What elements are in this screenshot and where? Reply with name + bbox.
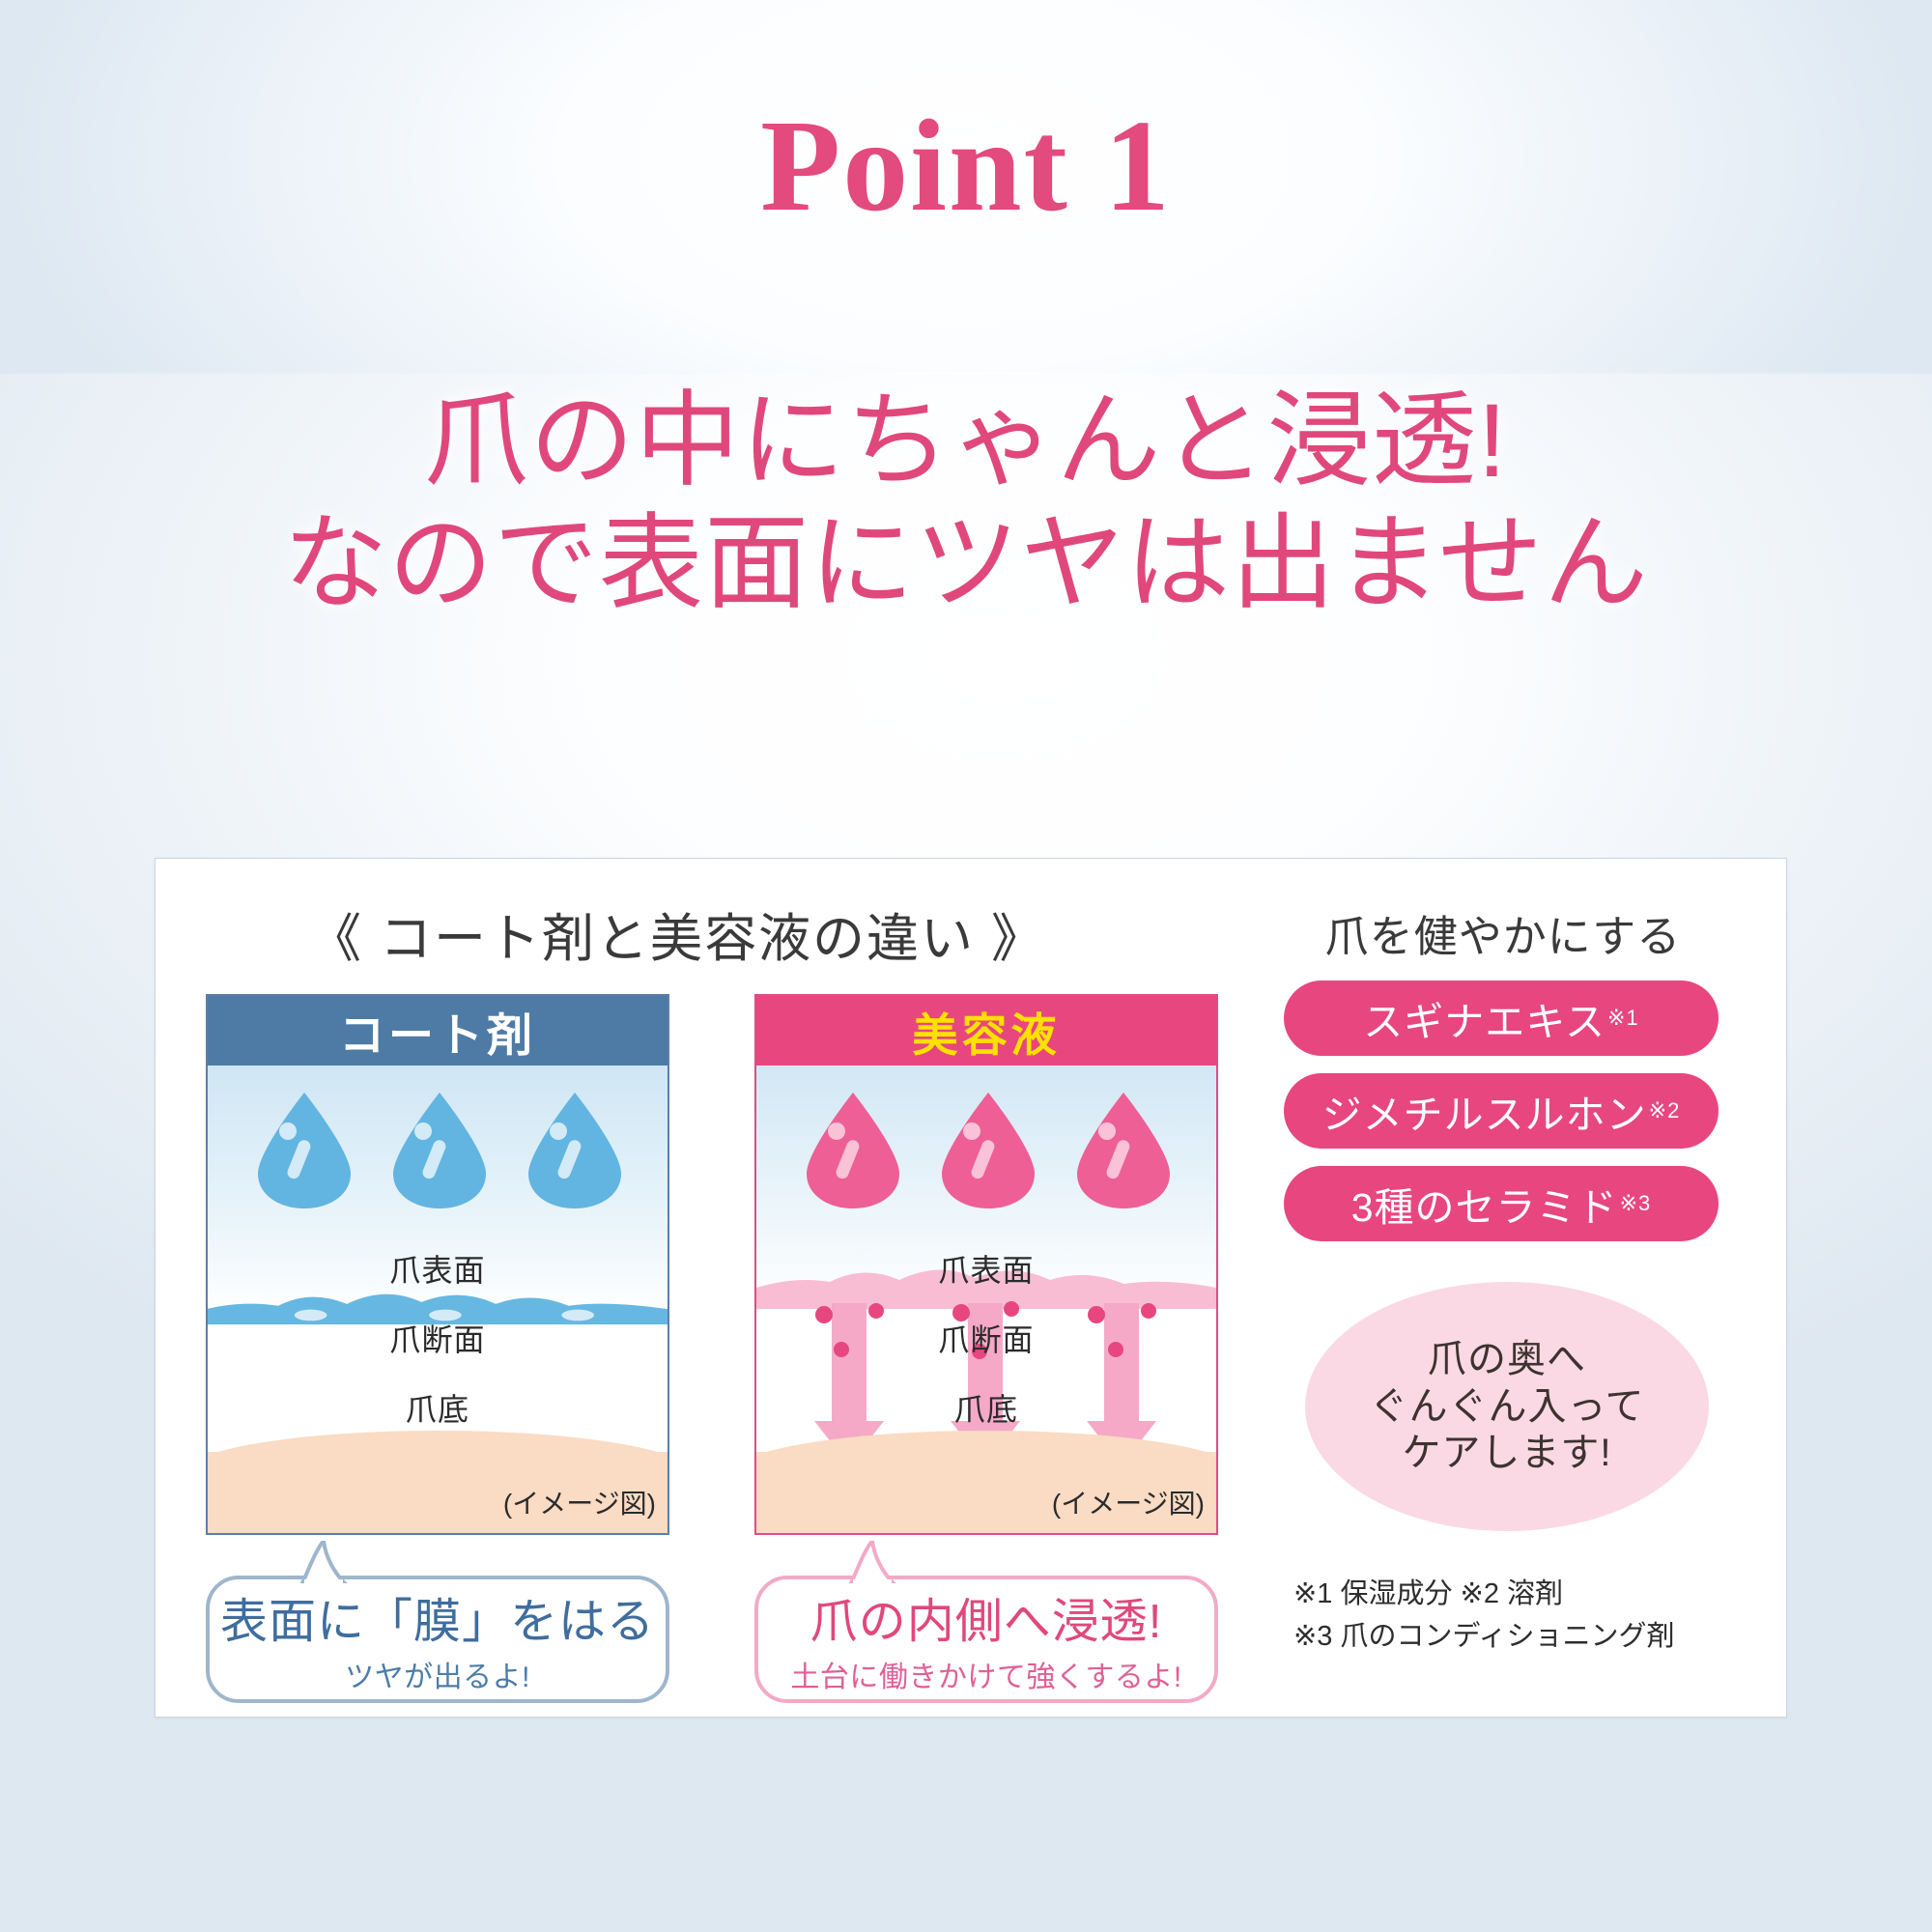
hero-divider (0, 372, 1932, 374)
droplet-blue-icon (389, 1091, 490, 1210)
layer-label: 爪断面 (208, 1324, 668, 1355)
footnote-line-2: ※3 爪のコンディショニング剤 (1293, 1616, 1796, 1659)
callout-bubble-coat: 表面に「膜」をはる ツヤが出るよ! (206, 1576, 669, 1703)
comparison-card: 《 コート剤と美容液の違い 》 爪を健やかにする コート剤 (155, 858, 1787, 1718)
panel-coat-image-note: (イメージ図) (503, 1483, 656, 1521)
panel-serum-layer-labels: 爪表面 爪断面 爪底 (756, 1255, 1216, 1425)
footnote-line-1: ※1 保湿成分 ※2 溶剤 (1293, 1574, 1796, 1616)
layer-label: 爪底 (756, 1394, 1216, 1425)
callout-line-2: ぐんぐん入って (1370, 1383, 1645, 1431)
ingredient-pill: スギナエキス※1 (1284, 980, 1719, 1056)
infographic-page: Point 1 爪の中にちゃんと浸透! なので表面にツヤは出ません 《 コート剤… (0, 0, 1932, 1932)
footnotes: ※1 保湿成分 ※2 溶剤 ※3 爪のコンディショニング剤 (1293, 1574, 1796, 1658)
panel-serum-header: 美容液 (756, 996, 1216, 1065)
headline: 爪の中にちゃんと浸透! なので表面にツヤは出ません (0, 383, 1932, 622)
ingredient-name: スギナエキス (1363, 989, 1605, 1047)
layer-label: 爪表面 (756, 1255, 1216, 1286)
callout-line-1: 爪の奥へ (1428, 1336, 1586, 1383)
bubble-serum-sub: 土台に働きかけて強くするよ! (758, 1653, 1214, 1695)
droplet-pink-icon (938, 1091, 1038, 1210)
ingredient-name: ジメチルスルホン (1322, 1082, 1647, 1140)
layer-label: 爪底 (208, 1394, 668, 1425)
layer-label: 爪表面 (208, 1255, 668, 1286)
ingredient-note: ※1 (1607, 1006, 1639, 1031)
penetration-callout: 爪の奥へ ぐんぐん入って ケアします! (1305, 1282, 1709, 1531)
ingredients-section-title: 爪を健やかにする (1262, 901, 1745, 964)
droplet-pink-icon (1073, 1091, 1174, 1210)
ingredient-pill: ジメチルスルホン※2 (1284, 1073, 1719, 1149)
page-title: Point 1 (0, 100, 1932, 232)
ingredient-pill: 3種のセラミド※3 (1284, 1166, 1719, 1241)
bubble-coat-sub: ツヤが出るよ! (210, 1653, 666, 1695)
ingredient-name: 3種のセラミド (1351, 1175, 1618, 1233)
comparison-section-title: 《 コート剤と美容液の違い 》 (194, 895, 1160, 972)
headline-line-1: 爪の中にちゃんと浸透! (424, 382, 1507, 498)
bubble-tail-icon (297, 1541, 351, 1583)
panel-coat-header: コート剤 (208, 996, 668, 1065)
droplet-pink-icon (803, 1091, 903, 1210)
ingredient-note: ※2 (1649, 1098, 1681, 1123)
ingredient-note: ※3 (1620, 1191, 1652, 1216)
panel-serum-body: 爪表面 爪断面 爪底 (イメージ図) (756, 1065, 1216, 1533)
panel-coat-layer-labels: 爪表面 爪断面 爪底 (208, 1255, 668, 1425)
panel-coat-body: 爪表面 爪断面 爪底 (イメージ図) (208, 1065, 668, 1533)
panel-serum-image-note: (イメージ図) (1052, 1483, 1205, 1521)
callout-bubble-serum: 爪の内側へ浸透! 土台に働きかけて強くするよ! (754, 1576, 1218, 1703)
bubble-serum-main: 爪の内側へ浸透! (758, 1597, 1214, 1648)
layer-label: 爪断面 (756, 1324, 1216, 1355)
panel-coat: コート剤 (206, 994, 669, 1535)
callout-line-3: ケアします! (1402, 1430, 1611, 1477)
droplet-blue-icon (254, 1091, 355, 1210)
bubble-tail-icon (845, 1541, 899, 1583)
headline-line-2: なので表面にツヤは出ません (0, 505, 1932, 622)
panel-serum: 美容液 (754, 994, 1218, 1535)
bubble-coat-main: 表面に「膜」をはる (210, 1597, 666, 1648)
droplet-blue-icon (525, 1091, 625, 1210)
